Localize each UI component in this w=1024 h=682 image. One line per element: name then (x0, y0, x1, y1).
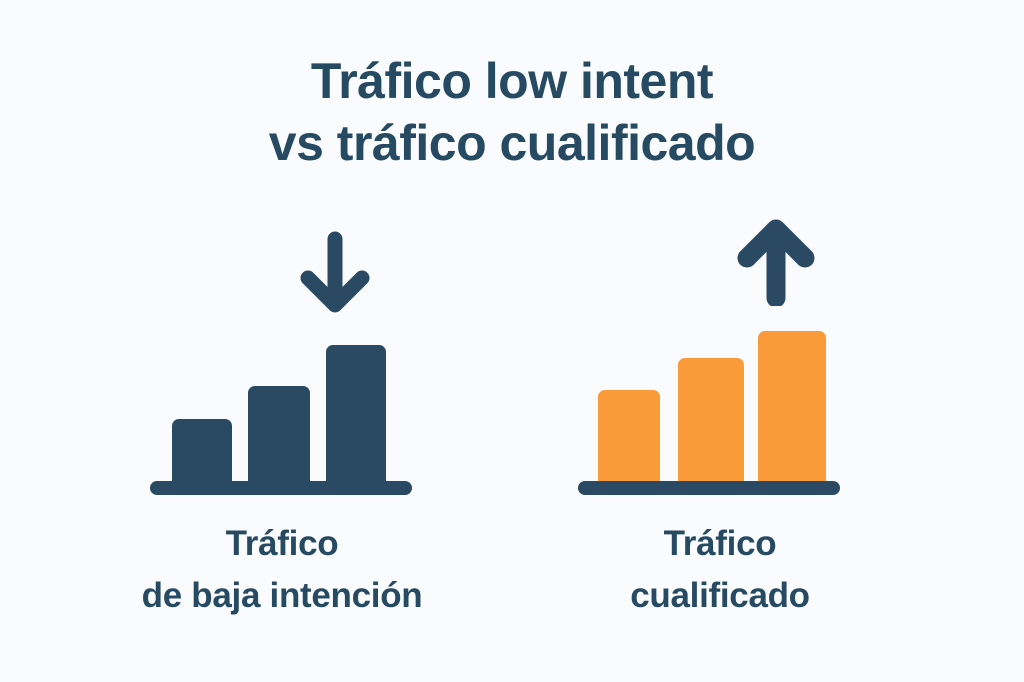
page-title: Tráfico low intent vs tráfico cualificad… (0, 50, 1024, 174)
bar-orange-3 (758, 331, 826, 486)
bar-orange-1 (598, 390, 660, 486)
bar-orange-2 (678, 358, 744, 486)
bar-navy-2 (248, 386, 310, 486)
caption-left-line-1: Tráfico (52, 518, 512, 570)
chart-baseline-right (578, 481, 840, 495)
bar-chart-navy (100, 210, 460, 495)
title-line-2: vs tráfico cualificado (0, 112, 1024, 174)
caption-left-line-2: de baja intención (52, 570, 512, 622)
chart-qualified-traffic (540, 210, 900, 495)
bar-navy-1 (172, 419, 232, 486)
caption-right-line-2: cualificado (490, 570, 950, 622)
caption-right-line-1: Tráfico (490, 518, 950, 570)
caption-qualified-traffic: Tráfico cualificado (490, 518, 950, 622)
infographic-canvas: Tráfico low intent vs tráfico cualificad… (0, 0, 1024, 682)
arrow-down-icon (298, 230, 372, 316)
chart-baseline-left (150, 481, 412, 495)
bar-chart-orange (540, 210, 900, 495)
chart-low-intent-traffic (100, 210, 460, 495)
title-line-1: Tráfico low intent (0, 50, 1024, 112)
bar-navy-3 (326, 345, 386, 486)
arrow-up-icon (736, 210, 816, 306)
caption-low-intent-traffic: Tráfico de baja intención (52, 518, 512, 622)
